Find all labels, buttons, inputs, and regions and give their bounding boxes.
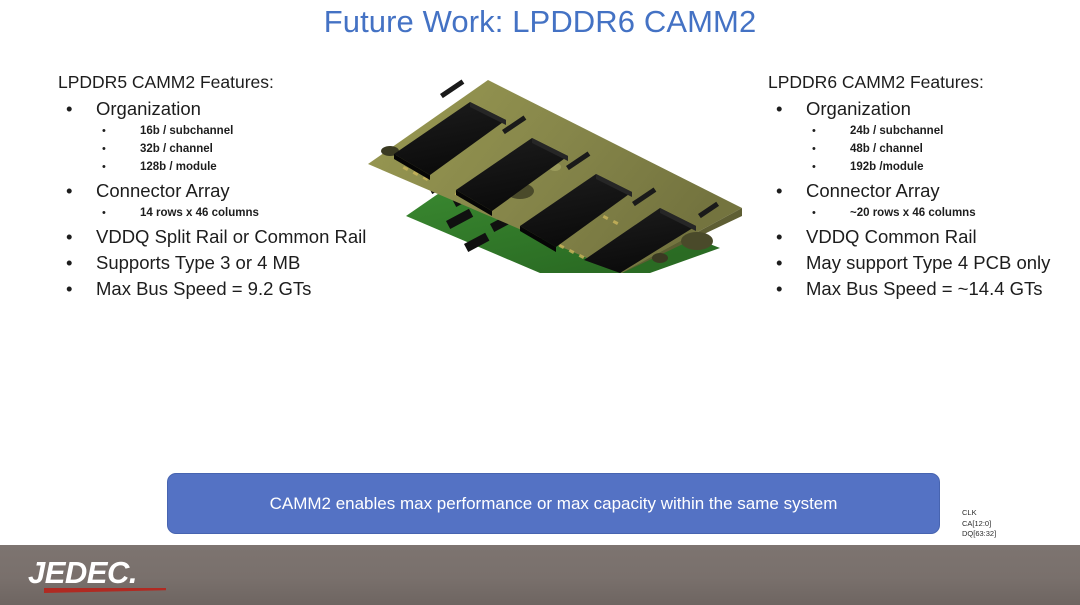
signal-labels: CLK CA[12:0] DQ[63:32]	[962, 508, 996, 540]
jedec-logo: JEDEC.	[28, 557, 168, 597]
bullet-icon: •	[102, 204, 106, 222]
list-item-label: 48b / channel	[850, 143, 923, 155]
callout-banner: CAMM2 enables max performance or max cap…	[167, 473, 940, 534]
jedec-wordmark: JEDEC.	[28, 557, 168, 588]
right-column-heading: LPDDR6 CAMM2 Features:	[768, 72, 1080, 93]
signal-label-dq: DQ[63:32]	[962, 529, 996, 540]
list-item-label: May support Type 4 PCB only	[806, 252, 1050, 273]
list-item-label: Connector Array	[96, 180, 230, 201]
list-item: • Max Bus Speed = 9.2 GTs	[58, 276, 418, 301]
jedec-swoosh-icon	[44, 588, 166, 593]
list-item-label: 16b / subchannel	[140, 125, 233, 137]
list-item: • Max Bus Speed = ~14.4 GTs	[768, 276, 1080, 301]
list-item-label: Max Bus Speed = ~14.4 GTs	[806, 278, 1043, 299]
bullet-icon: •	[812, 122, 816, 140]
list-item-label: 32b / channel	[140, 143, 213, 155]
bullet-icon: •	[66, 178, 72, 203]
list-item: • Connector Array • ~20 rows x 46 column…	[768, 178, 1080, 222]
list-item: • Organization • 24b / subchannel • 48b …	[768, 96, 1080, 176]
list-item-label: Supports Type 3 or 4 MB	[96, 252, 300, 273]
list-item-label: ~20 rows x 46 columns	[850, 207, 976, 219]
list-item: • VDDQ Common Rail	[768, 224, 1080, 249]
bullet-icon: •	[812, 204, 816, 222]
bullet-icon: •	[776, 250, 782, 275]
list-item: • ~20 rows x 46 columns	[806, 204, 1080, 222]
list-item: • 192b /module	[806, 158, 1080, 176]
bullet-icon: •	[102, 158, 106, 176]
signal-label-clk: CLK	[962, 508, 996, 519]
bullet-icon: •	[102, 122, 106, 140]
list-item-label: Organization	[806, 98, 911, 119]
bullet-icon: •	[776, 276, 782, 301]
bullet-icon: •	[66, 224, 72, 249]
right-sublist-connector-array: • ~20 rows x 46 columns	[806, 204, 1080, 222]
list-item-label: 192b /module	[850, 161, 924, 173]
list-item-label: Max Bus Speed = 9.2 GTs	[96, 278, 311, 299]
lpddr6-features-column: LPDDR6 CAMM2 Features: • Organization • …	[768, 72, 1080, 302]
list-item-label: VDDQ Common Rail	[806, 226, 977, 247]
list-item-label: Connector Array	[806, 180, 940, 201]
list-item-label: VDDQ Split Rail or Common Rail	[96, 226, 366, 247]
list-item: • 24b / subchannel	[806, 122, 1080, 140]
list-item-label: 14 rows x 46 columns	[140, 207, 259, 219]
bullet-icon: •	[812, 158, 816, 176]
page-title: Future Work: LPDDR6 CAMM2	[0, 4, 1080, 40]
list-item: • May support Type 4 PCB only	[768, 250, 1080, 275]
bullet-icon: •	[66, 96, 72, 121]
list-item: • 48b / channel	[806, 140, 1080, 158]
list-item-label: 128b / module	[140, 161, 217, 173]
jedec-logo-period: .	[129, 555, 137, 590]
bullet-icon: •	[776, 224, 782, 249]
jedec-logo-text: JEDEC	[28, 555, 129, 590]
signal-label-ca: CA[12:0]	[962, 519, 996, 530]
list-item-label: Organization	[96, 98, 201, 119]
bullet-icon: •	[102, 140, 106, 158]
right-feature-list: • Organization • 24b / subchannel • 48b …	[768, 96, 1080, 301]
bullet-icon: •	[776, 178, 782, 203]
camm2-module-3d-render	[360, 58, 760, 273]
bullet-icon: •	[812, 140, 816, 158]
bullet-icon: •	[776, 96, 782, 121]
callout-text: CAMM2 enables max performance or max cap…	[270, 494, 838, 514]
bullet-icon: •	[66, 276, 72, 301]
list-item-label: 24b / subchannel	[850, 125, 943, 137]
right-sublist-organization: • 24b / subchannel • 48b / channel • 192…	[806, 122, 1080, 176]
bullet-icon: •	[66, 250, 72, 275]
